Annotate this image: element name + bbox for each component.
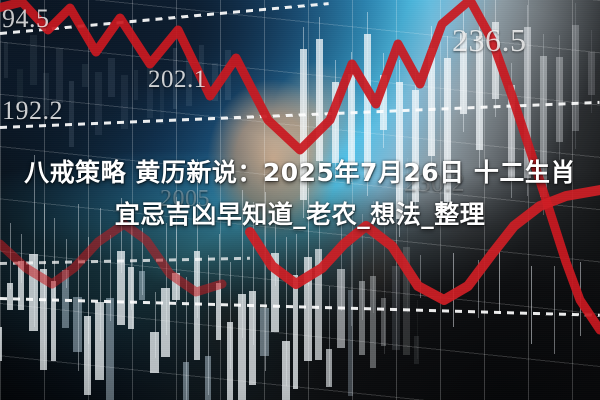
article-cover-image: 94.5 192.2 202.1 236.5 2005 230.2 八戒策略 黄… [0,0,600,400]
page-title-line-1: 八戒策略 黄历新说：2025年7月26日 十二生肖 [14,152,586,194]
page-title: 八戒策略 黄历新说：2025年7月26日 十二生肖 宜忌吉凶早知道_老农_想法_… [0,152,600,236]
page-title-line-2: 宜忌吉凶早知道_老农_想法_整理 [14,194,586,236]
